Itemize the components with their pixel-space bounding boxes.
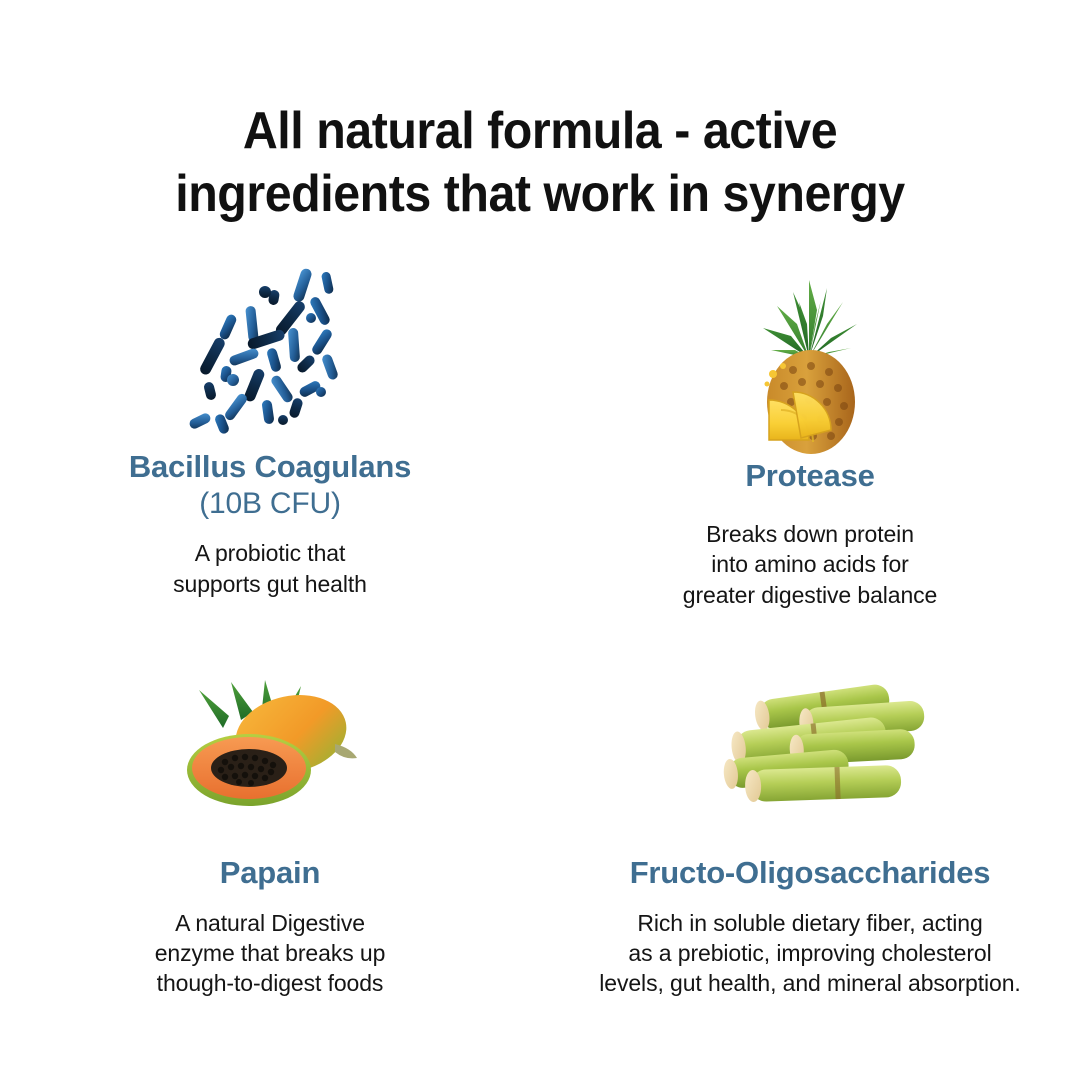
bacteria-rods-icon [165,262,375,440]
ingredient-title-text: Papain [220,855,320,890]
ingredients-infographic: All natural formula - active ingredients… [0,0,1080,1080]
page-title-line-1: All natural formula - active [243,102,837,160]
description-line: A natural Digestive [155,908,386,938]
ingredient-title: Protease [745,457,874,495]
description-line: supports gut health [173,569,367,599]
ingredient-description: Breaks down protein into amino acids for… [683,519,938,610]
description-line: enzyme that breaks up [155,938,386,968]
ingredient-description: A probiotic that supports gut health [173,538,367,599]
ingredient-description: A natural Digestive enzyme that breaks u… [155,908,386,999]
page-title-line-2: ingredients that work in synergy [175,165,904,223]
description-line: A probiotic that [173,538,367,568]
ingredient-card-bacillus-coagulans: Bacillus Coagulans (10B CFU) A probiotic… [0,262,540,610]
ingredient-subtitle: (10B CFU) [129,486,411,523]
description-line: Breaks down protein [683,519,938,549]
ingredient-title: Papain [220,854,320,892]
ingredient-title: Fructo-Oligosaccharides [630,854,991,892]
ingredient-card-fructo-oligosaccharides: Fructo-Oligosaccharides Rich in soluble … [540,650,1080,999]
ingredient-title-text: Bacillus Coagulans [129,449,411,484]
description-line: as a prebiotic, improving cholesterol [599,938,1020,968]
description-line: greater digestive balance [683,580,938,610]
ingredient-grid: Bacillus Coagulans (10B CFU) A probiotic… [0,262,1080,999]
description-line: levels, gut health, and mineral absorpti… [599,968,1020,998]
sugarcane-icon [685,672,935,822]
description-line: into amino acids for [683,549,938,579]
ingredient-card-protease: Protease Breaks down protein into amino … [540,262,1080,610]
papaya-icon [165,672,375,822]
ingredient-title: Bacillus Coagulans (10B CFU) [129,448,411,522]
description-line: Rich in soluble dietary fiber, acting [599,908,1020,938]
ingredient-card-papain: Papain A natural Digestive enzyme that b… [0,650,540,999]
ingredient-title-text: Fructo-Oligosaccharides [630,855,991,890]
pineapple-icon [705,262,915,457]
ingredient-description: Rich in soluble dietary fiber, acting as… [599,908,1020,999]
ingredient-title-text: Protease [745,458,874,493]
page-title: All natural formula - active ingredients… [94,100,987,227]
description-line: though-to-digest foods [155,968,386,998]
